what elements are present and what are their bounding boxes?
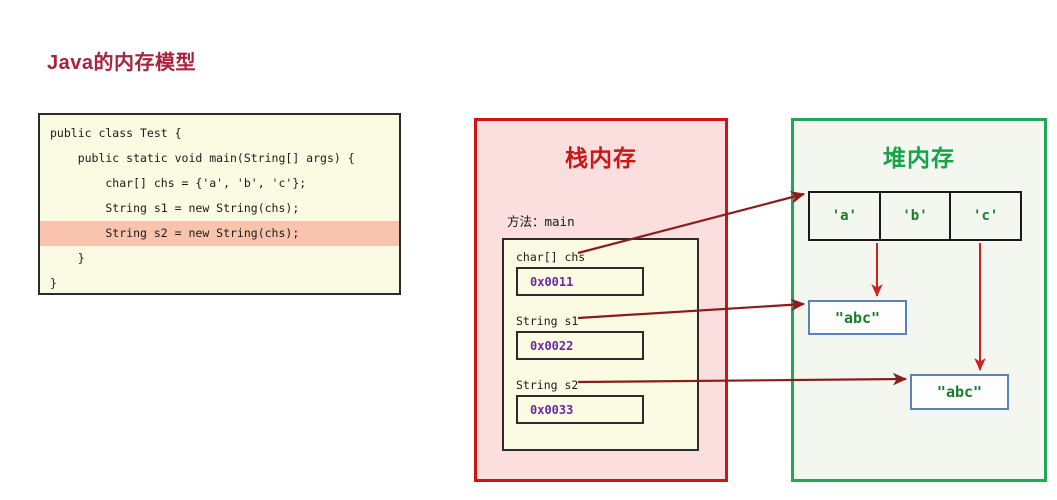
stack-memory-title: 栈内存 [477,139,725,173]
stack-frame-main: char[] chs 0x0011 String s1 0x0022 Strin… [502,238,699,451]
stack-variable-value: 0x0033 [530,403,573,417]
code-line-3: String s1 = new String(chs); [40,196,399,221]
code-line-1: public static void main(String[] args) { [40,146,399,171]
stack-variable-value-box: 0x0033 [516,395,644,424]
char-array-cell-0: 'a' [810,193,881,239]
stack-variable-value: 0x0022 [530,339,573,353]
code-line-4-highlighted: String s2 = new String(chs); [40,221,399,246]
code-line-0: public class Test { [40,121,399,146]
stack-variable-label: char[] chs [516,250,688,264]
code-block: public class Test { public static void m… [38,113,401,295]
code-line-2: char[] chs = {'a', 'b', 'c'}; [40,171,399,196]
heap-memory-title: 堆内存 [794,139,1044,173]
code-lines: public class Test { public static void m… [40,115,399,295]
stack-variable-value-box: 0x0022 [516,331,644,360]
code-line-6: } [40,271,399,295]
code-line-5: } [40,246,399,271]
heap-string-object-2: "abc" [910,374,1009,410]
heap-char-array-object: 'a' 'b' 'c' [808,191,1022,241]
char-array-cell-2: 'c' [951,193,1020,239]
stack-variable-label: String s1 [516,314,688,328]
stack-variable-value-box: 0x0011 [516,267,644,296]
heap-string-object-1: "abc" [808,300,907,335]
char-array-cell-1: 'b' [881,193,952,239]
stack-variable-chs: char[] chs 0x0011 [516,250,688,296]
stack-method-label: 方法：main [507,211,575,230]
stack-memory-region: 栈内存 方法：main char[] chs 0x0011 String s1 … [474,118,728,482]
page-title: Java的内存模型 [47,46,196,75]
stack-variable-label: String s2 [516,378,688,392]
stack-variable-s1: String s1 0x0022 [516,314,688,360]
slide-canvas: Java的内存模型 public class Test { public sta… [0,0,1057,500]
stack-variable-s2: String s2 0x0033 [516,378,688,424]
stack-variable-value: 0x0011 [530,275,573,289]
